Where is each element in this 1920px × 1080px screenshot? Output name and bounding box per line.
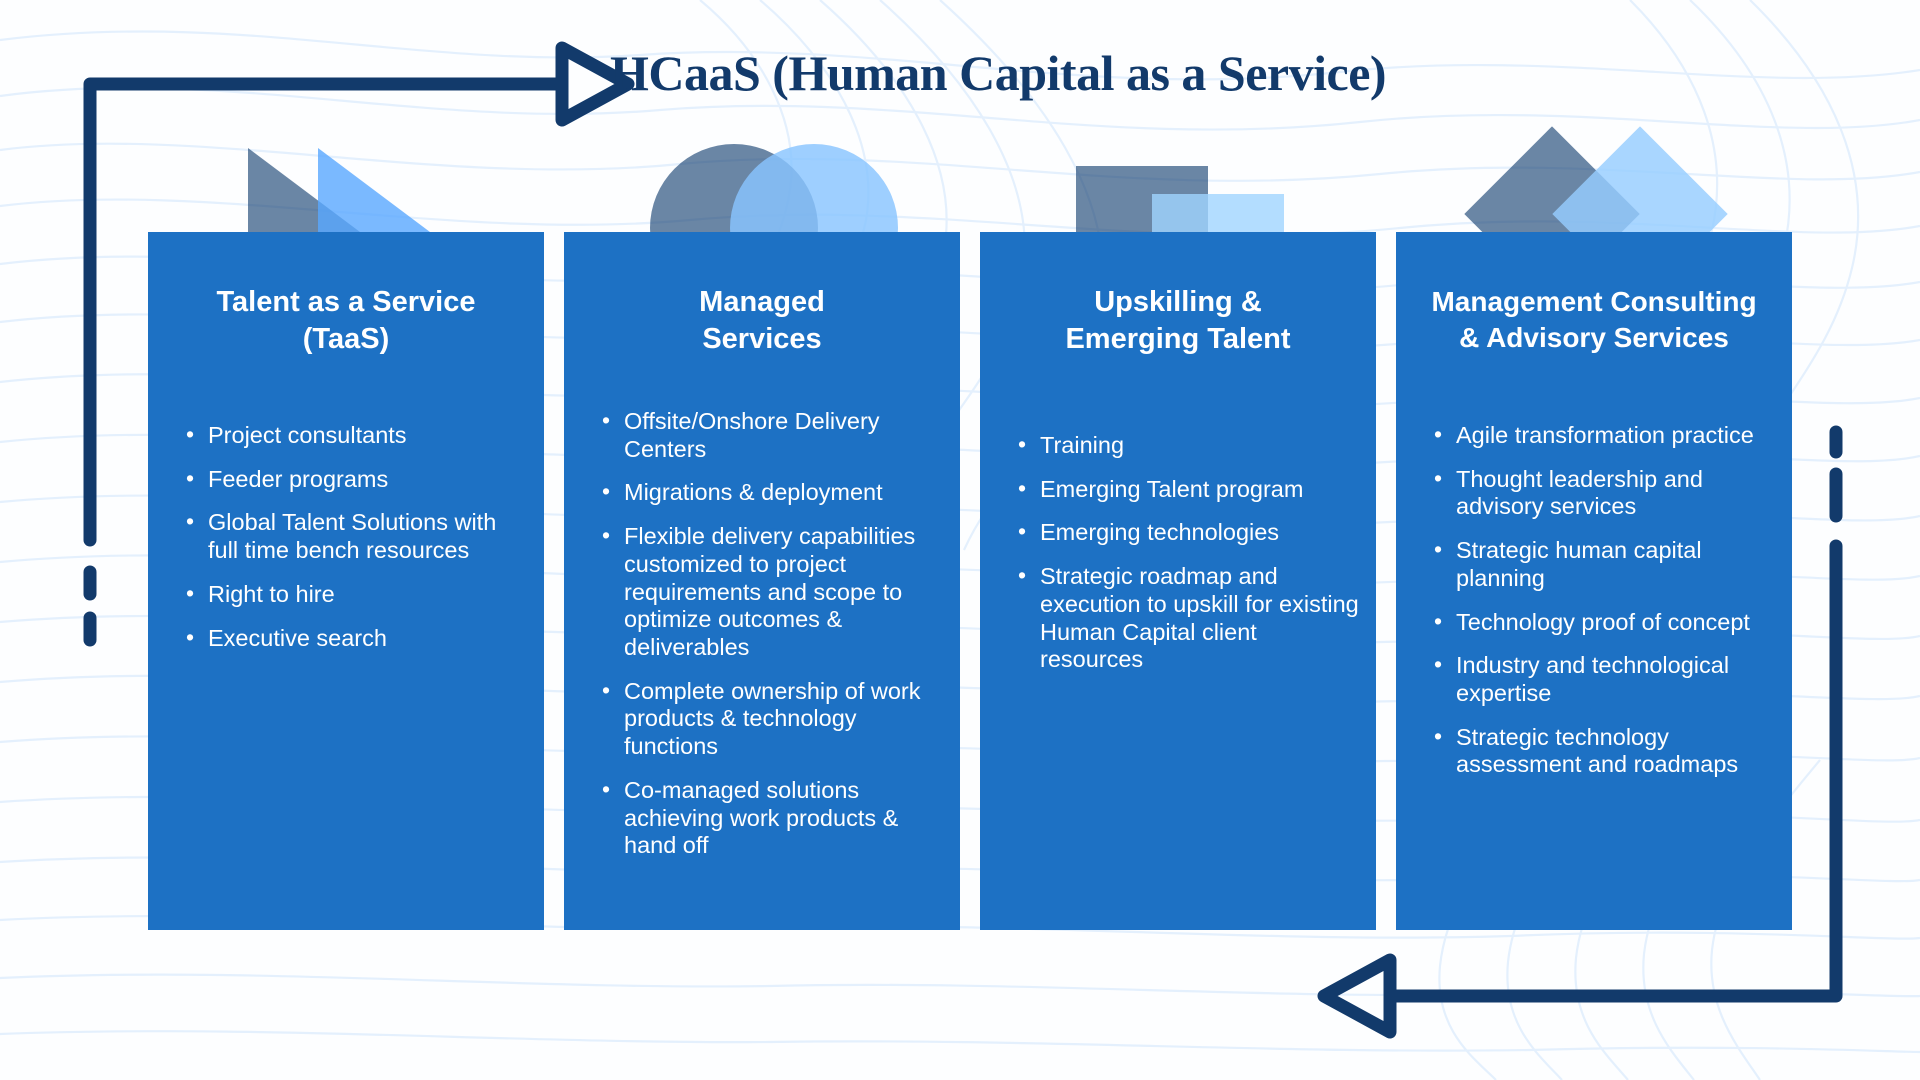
list-item: Co-managed solutions achieving work prod… <box>598 777 946 860</box>
list-item: Industry and technological expertise <box>1430 652 1778 707</box>
list-item: Flexible delivery capabilities customize… <box>598 523 946 662</box>
card-title: Talent as a Service (TaaS) <box>148 284 544 358</box>
list-item: Technology proof of concept <box>1430 609 1778 637</box>
list-item: Strategic human capital planning <box>1430 537 1778 592</box>
list-item: Right to hire <box>182 581 530 609</box>
list-item: Migrations & deployment <box>598 479 946 507</box>
list-item: Feeder programs <box>182 466 530 494</box>
card-title: Managed Services <box>564 284 960 358</box>
card-managed-services[interactable]: Managed Services Offsite/Onshore Deliver… <box>564 232 960 930</box>
list-item: Offsite/Onshore Delivery Centers <box>598 408 946 463</box>
list-item: Global Talent Solutions with full time b… <box>182 509 530 564</box>
card-bullet-list: Agile transformation practice Thought le… <box>1430 422 1778 795</box>
card-bullet-list: Offsite/Onshore Delivery Centers Migrati… <box>598 408 946 876</box>
card-upskilling-emerging-talent[interactable]: Upskilling & Emerging Talent Training Em… <box>980 232 1376 930</box>
card-bullet-list: Project consultants Feeder programs Glob… <box>182 422 530 668</box>
list-item: Strategic roadmap and execution to upski… <box>1014 563 1362 674</box>
card-bullet-list: Training Emerging Talent program Emergin… <box>1014 432 1362 690</box>
card-talent-as-a-service[interactable]: Talent as a Service (TaaS) Project consu… <box>148 232 544 930</box>
list-item: Emerging Talent program <box>1014 476 1362 504</box>
list-item: Training <box>1014 432 1362 460</box>
slide-canvas: HCaaS (Human Capital as a Service) Talen… <box>0 0 1920 1080</box>
card-title: Management Consulting & Advisory Service… <box>1396 284 1792 356</box>
arrowhead-left-icon <box>1324 960 1390 1032</box>
list-item: Executive search <box>182 625 530 653</box>
list-item: Complete ownership of work products & te… <box>598 678 946 761</box>
list-item: Thought leadership and advisory services <box>1430 466 1778 521</box>
card-management-consulting-advisory[interactable]: Management Consulting & Advisory Service… <box>1396 232 1792 930</box>
list-item: Emerging technologies <box>1014 519 1362 547</box>
card-title: Upskilling & Emerging Talent <box>980 284 1376 358</box>
list-item: Strategic technology assessment and road… <box>1430 724 1778 779</box>
page-title: HCaaS (Human Capital as a Service) <box>610 44 1610 102</box>
list-item: Agile transformation practice <box>1430 422 1778 450</box>
list-item: Project consultants <box>182 422 530 450</box>
